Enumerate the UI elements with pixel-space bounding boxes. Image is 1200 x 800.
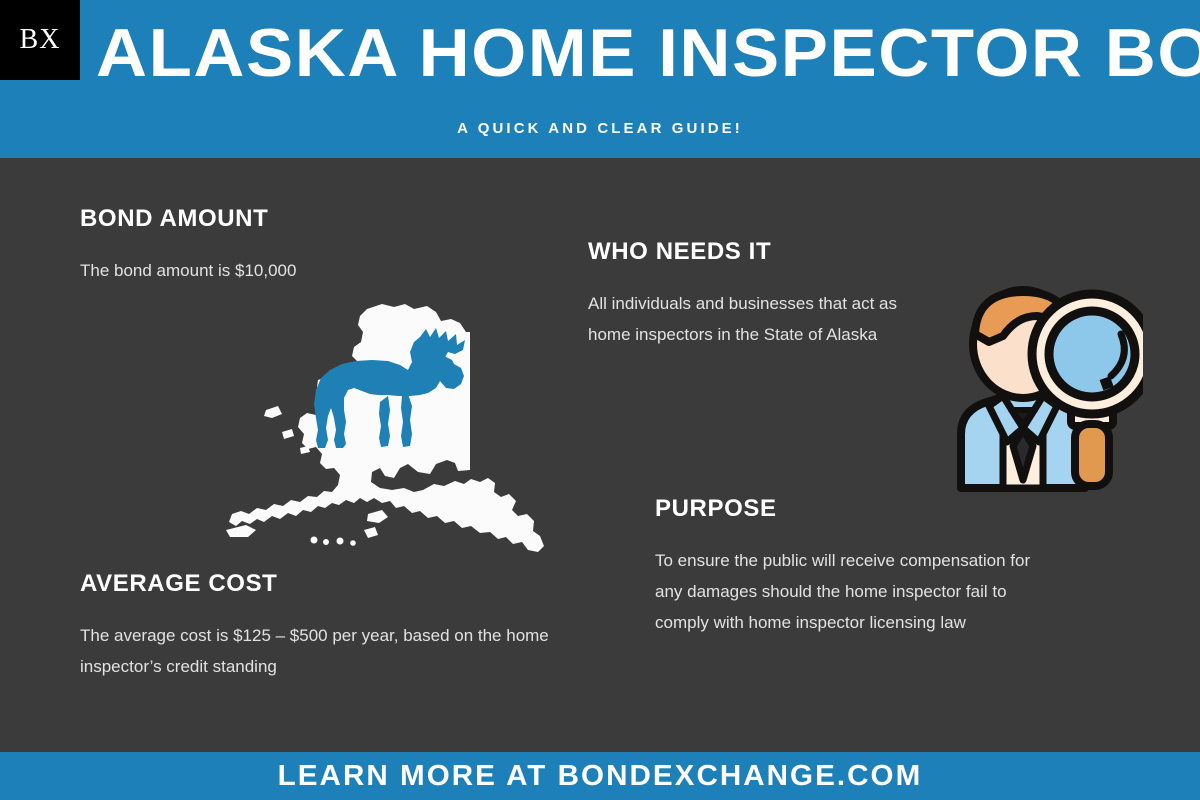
section-body-who-needs-it: All individuals and businesses that act …	[588, 288, 918, 350]
section-heading-who-needs-it: WHO NEEDS IT	[588, 238, 918, 266]
page-subtitle: A QUICK AND CLEAR GUIDE!	[0, 120, 1200, 137]
brand-logo-badge[interactable]: BX	[0, 0, 80, 80]
header-banner: BX ALASKA HOME INSPECTOR BOND A QUICK AN…	[0, 0, 1200, 158]
brand-logo-text: BX	[20, 24, 61, 56]
section-purpose: PURPOSE To ensure the public will receiv…	[655, 495, 1055, 638]
footer-cta-text: LEARN MORE AT BONDEXCHANGE.COM	[278, 760, 923, 793]
alaska-map-icon	[222, 292, 562, 560]
section-average-cost: AVERAGE COST The average cost is $125 – …	[80, 570, 600, 682]
page-title: ALASKA HOME INSPECTOR BOND	[96, 16, 1200, 90]
footer-cta-banner[interactable]: LEARN MORE AT BONDEXCHANGE.COM	[0, 752, 1200, 800]
section-body-bond-amount: The bond amount is $10,000	[80, 255, 380, 286]
section-body-average-cost: The average cost is $125 – $500 per year…	[80, 620, 600, 682]
section-heading-purpose: PURPOSE	[655, 495, 1055, 523]
section-body-purpose: To ensure the public will receive compen…	[655, 545, 1055, 638]
home-inspector-icon	[945, 282, 1143, 494]
section-heading-bond-amount: BOND AMOUNT	[80, 205, 380, 233]
infographic-root: BX ALASKA HOME INSPECTOR BOND A QUICK AN…	[0, 0, 1200, 800]
section-heading-average-cost: AVERAGE COST	[80, 570, 600, 598]
section-bond-amount: BOND AMOUNT The bond amount is $10,000	[80, 205, 380, 286]
section-who-needs-it: WHO NEEDS IT All individuals and busines…	[588, 238, 918, 350]
